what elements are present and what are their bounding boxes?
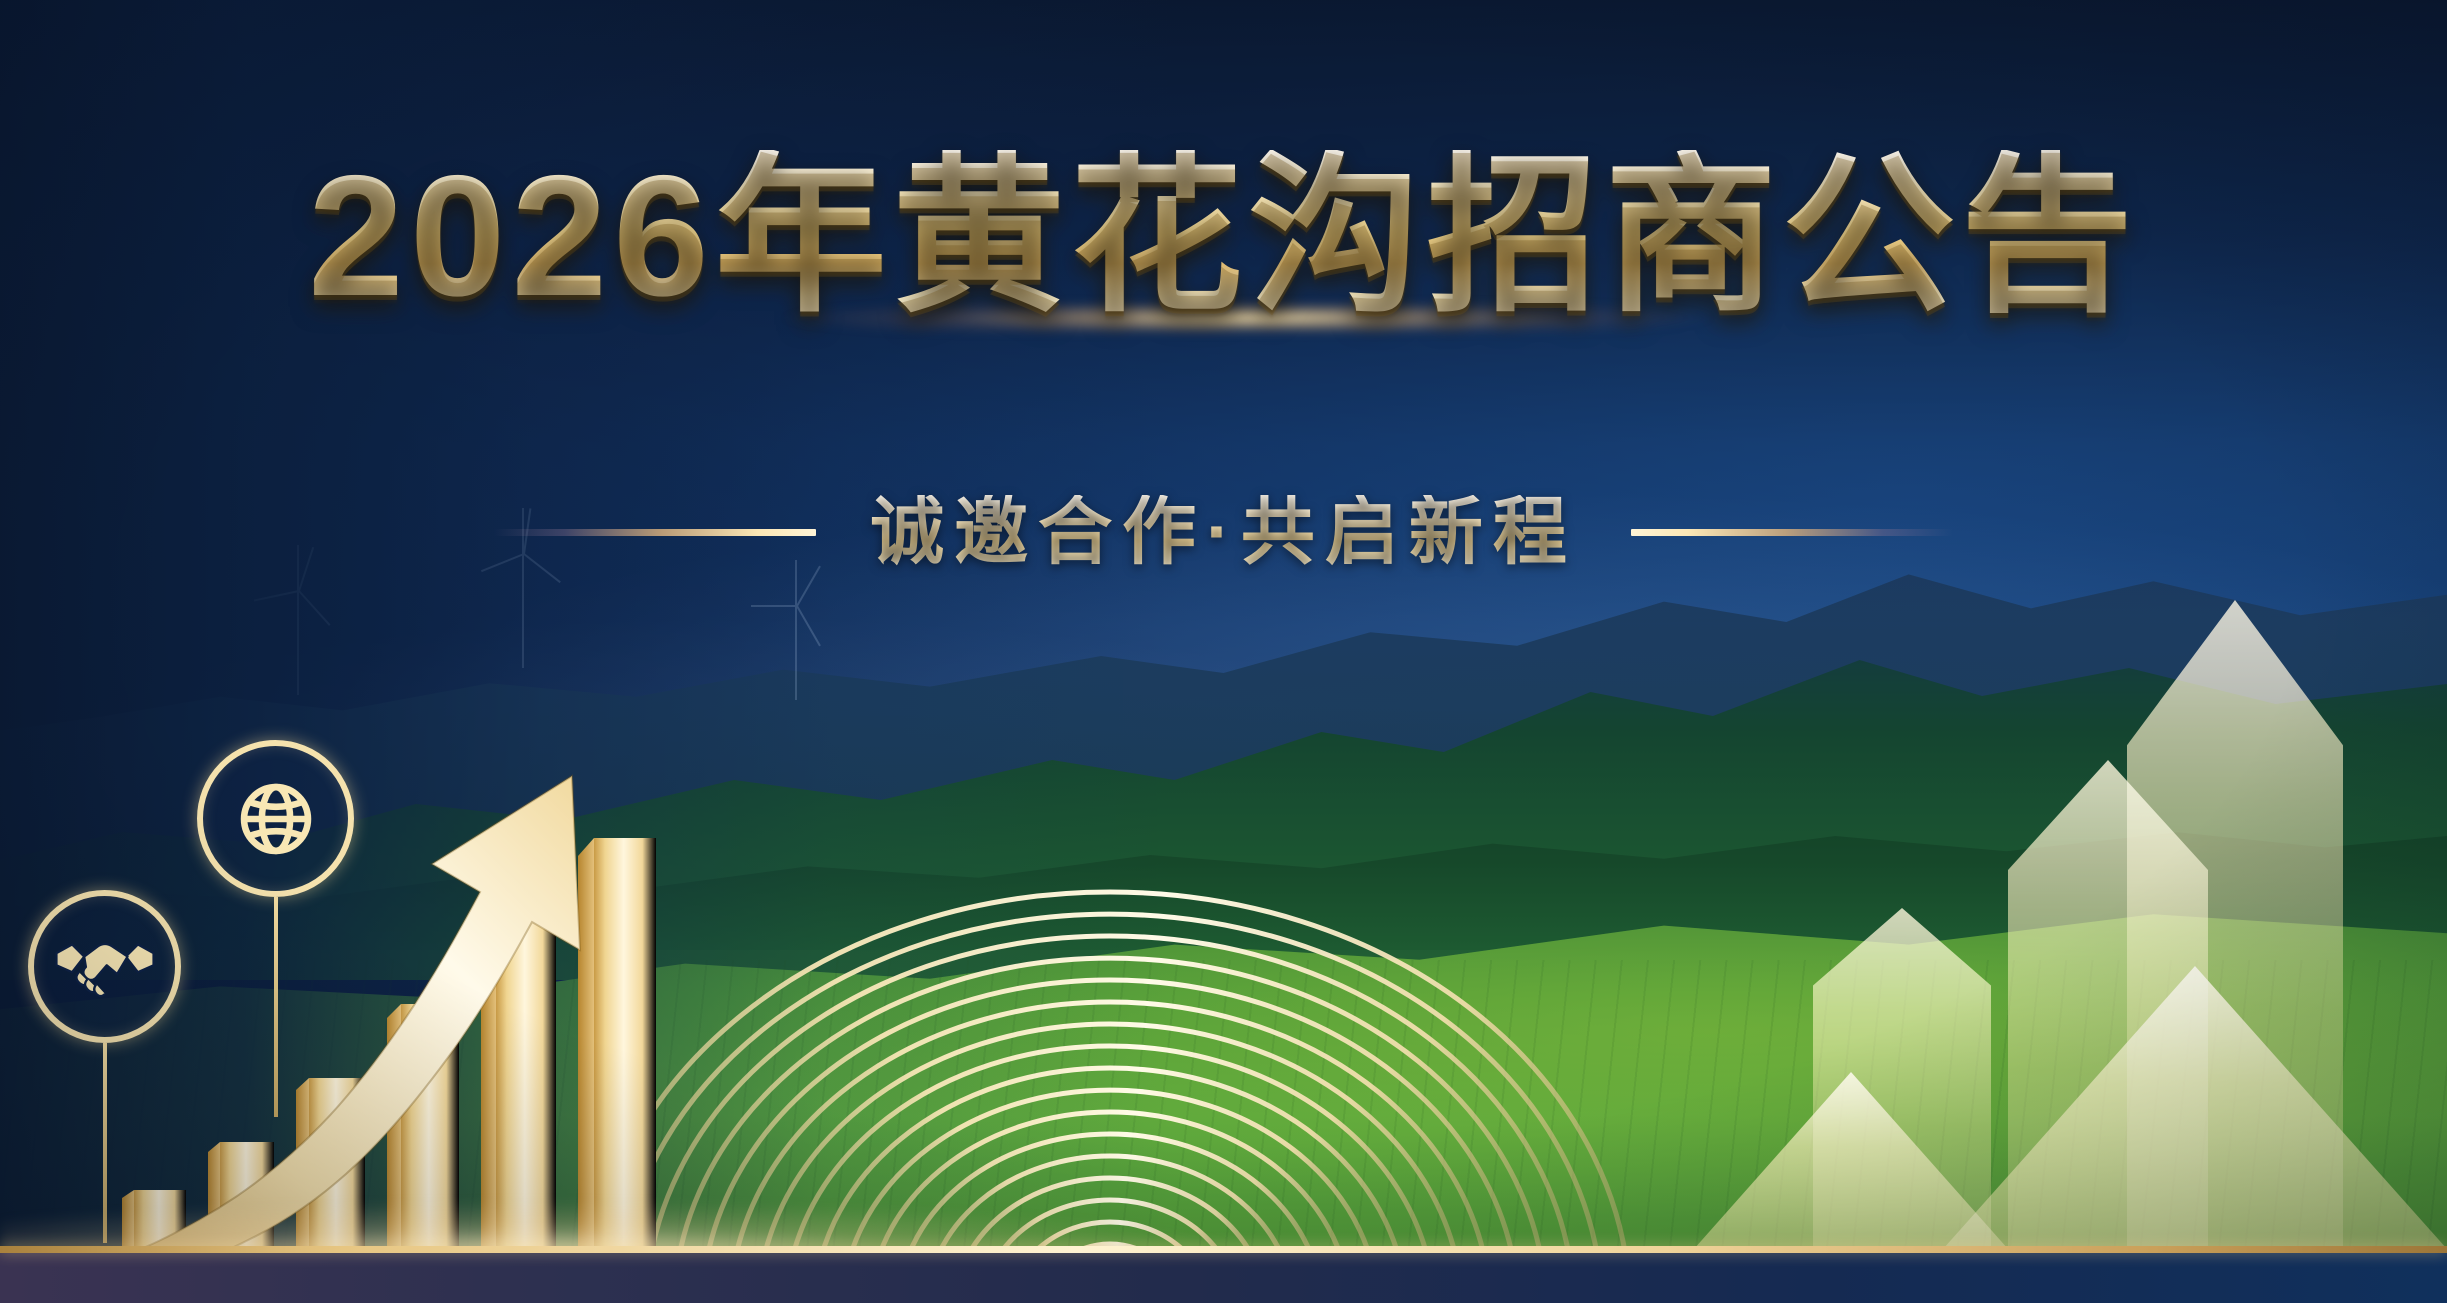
globe-badge <box>197 740 354 897</box>
handshake-icon <box>53 927 157 1007</box>
badge-ring <box>28 890 181 1043</box>
investment-announcement-banner: 2026年黄花沟招商公告 诚邀合作·共启新程 <box>0 0 2447 1303</box>
subtitle-rule-left <box>494 529 816 536</box>
globe-icon <box>229 772 323 866</box>
title-block: 2026年黄花沟招商公告 <box>0 150 2447 322</box>
handshake-badge <box>28 890 181 1043</box>
arc-rings-icon <box>560 840 1660 1303</box>
badge-stem <box>274 897 278 1117</box>
badge-stem <box>103 1043 107 1243</box>
badge-ring <box>197 740 354 897</box>
subtitle-row: 诚邀合作·共启新程 <box>0 495 2447 569</box>
bottom-gold-rule <box>0 1246 2447 1253</box>
page-title: 2026年黄花沟招商公告 <box>0 150 2447 322</box>
bottom-band <box>0 1253 2447 1303</box>
page-subtitle: 诚邀合作·共启新程 <box>870 495 1577 569</box>
subtitle-rule-right <box>1631 529 1953 536</box>
